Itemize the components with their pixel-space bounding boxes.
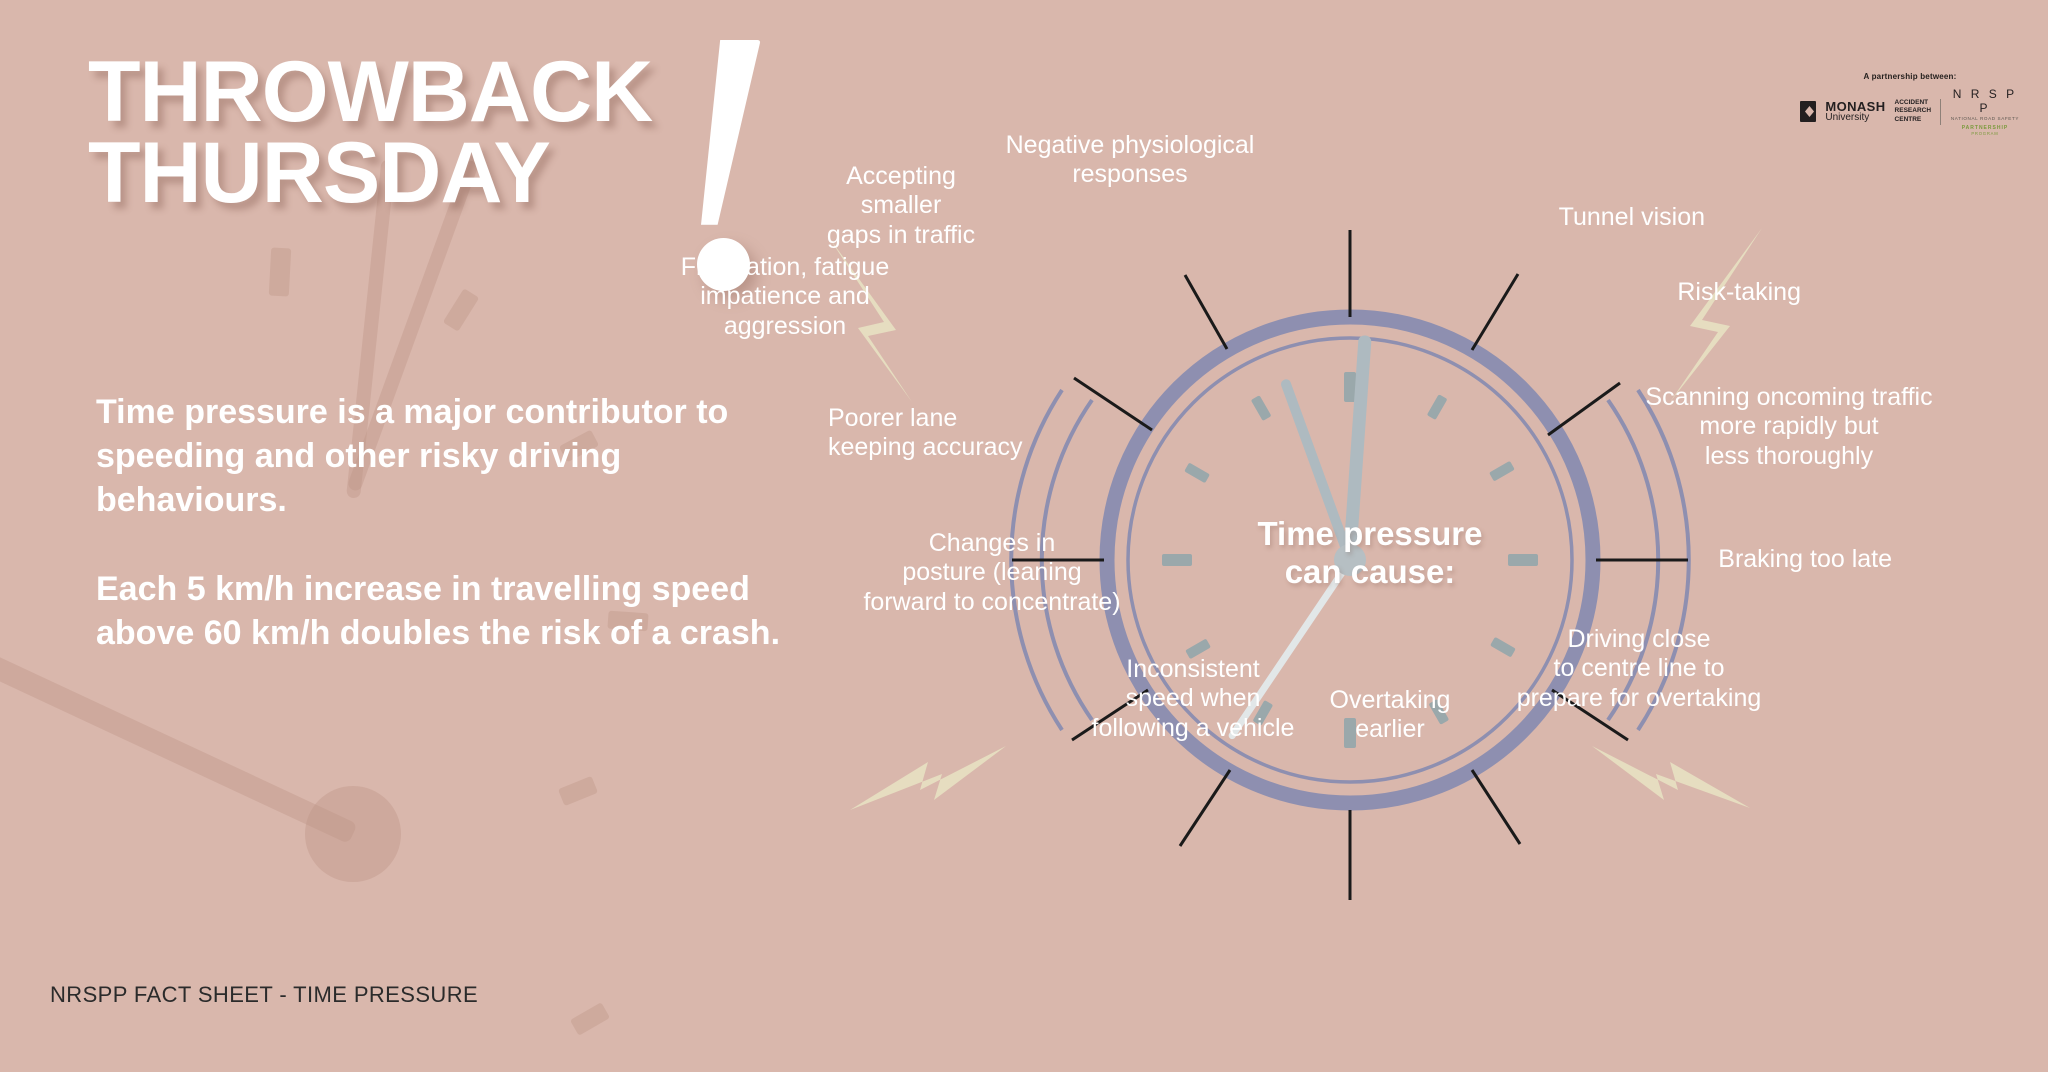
nrspp-program-line-2: PROGRAM [1950, 131, 2020, 136]
lightning-bolt-bottom-right [1592, 746, 1750, 808]
lightning-bolt-bottom-left [850, 746, 1006, 810]
partner-logo-block: A partnership between: MONASH University… [1800, 72, 2020, 136]
logo-divider [1940, 99, 1941, 125]
ghost-clock-hub [305, 786, 401, 882]
body-paragraph-1: Time pressure is a major contributor to … [96, 390, 796, 523]
lightning-bolt-top-right [1670, 228, 1762, 402]
callout-negative-physiological-responses: Negative physiological responses [1000, 131, 1260, 190]
accident-research-centre-wordmark: ACCIDENT RESEARCH CENTRE [1895, 99, 1931, 123]
page-title: THROWBACK THURSDAY [88, 52, 652, 214]
ghost-tick-5 [570, 1002, 610, 1036]
arc-line-2: RESEARCH [1895, 107, 1931, 115]
monash-wordmark: MONASH University [1825, 100, 1885, 123]
callout-poorer-lane-keeping: Poorer lane keeping accuracy [828, 404, 1038, 463]
callout-accepting-smaller-gaps: Accepting smaller gaps in traffic [806, 162, 996, 250]
callout-scanning-oncoming-traffic: Scanning oncoming traffic more rapidly b… [1639, 383, 1939, 471]
callout-tunnel-vision: Tunnel vision [1485, 203, 1705, 232]
callout-driving-close-to-centre-line: Driving close to centre line to prepare … [1494, 625, 1784, 713]
body-paragraph-2: Each 5 km/h increase in travelling speed… [96, 567, 796, 655]
callout-inconsistent-speed: Inconsistent speed when following a vehi… [1078, 655, 1308, 743]
nrspp-logo: N R S P P NATIONAL ROAD SAFETY PARTNERSH… [1950, 87, 2020, 136]
infographic-canvas: THROWBACK THURSDAY Time pressure is a ma… [0, 0, 2048, 1072]
ghost-tick-1 [443, 288, 479, 331]
ghost-tick-12 [269, 248, 291, 297]
ghost-tick-4 [558, 776, 598, 806]
callout-braking-too-late: Braking too late [1662, 545, 1892, 574]
footer-caption: NRSPP FACT SHEET - TIME PRESSURE [50, 982, 478, 1008]
headline-line-2: THURSDAY [88, 133, 652, 214]
monash-subtitle: University [1825, 113, 1885, 123]
monash-shield-icon [1800, 101, 1816, 122]
arc-line-3: CENTRE [1895, 116, 1931, 124]
center-label-line-1: Time pressure [1240, 515, 1500, 553]
callout-overtaking-earlier: Overtaking earlier [1300, 686, 1480, 745]
arc-line-1: ACCIDENT [1895, 99, 1931, 107]
partnership-label: A partnership between: [1800, 72, 2020, 81]
callout-risk-taking: Risk-taking [1601, 278, 1801, 307]
callout-changes-in-posture: Changes in posture (leaning forward to c… [852, 529, 1132, 617]
callout-frustration-fatigue: Frustration, fatigue impatience and aggr… [660, 253, 910, 341]
clock-center-label: Time pressure can cause: [1240, 515, 1500, 591]
nrspp-subtitle: NATIONAL ROAD SAFETY [1950, 116, 2020, 121]
nrspp-title: N R S P P [1950, 87, 2020, 115]
body-copy: Time pressure is a major contributor to … [96, 390, 796, 699]
center-label-line-2: can cause: [1240, 553, 1500, 591]
